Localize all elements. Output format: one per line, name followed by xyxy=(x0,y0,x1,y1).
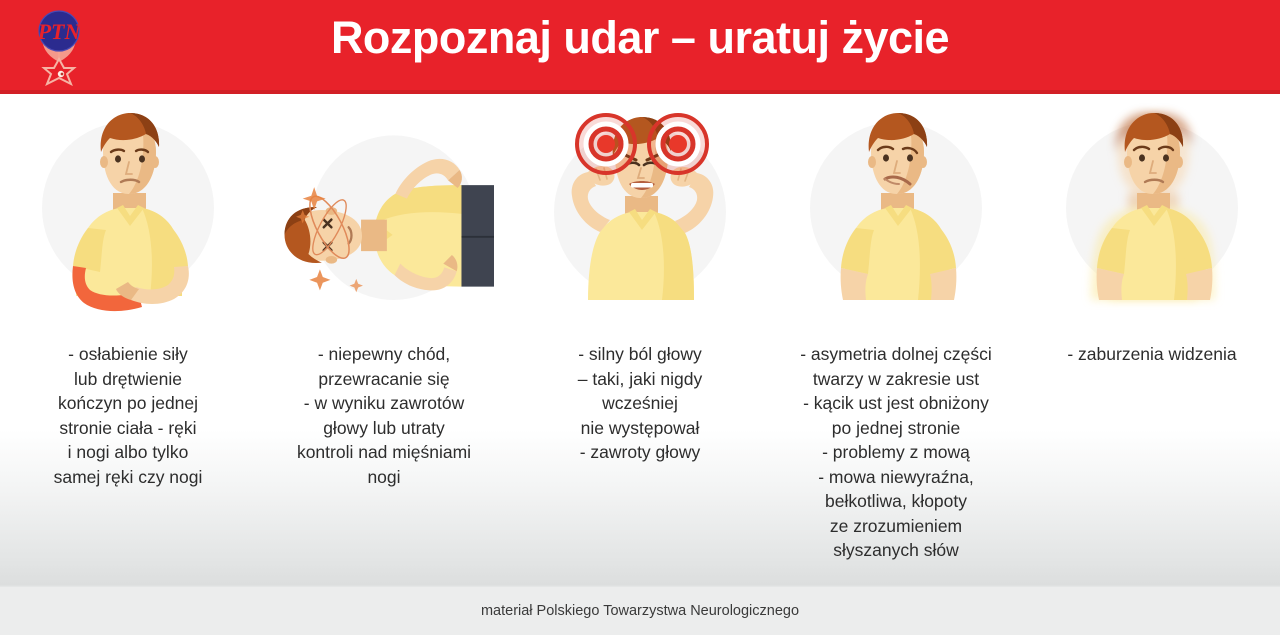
symptom-text-2: - niepewny chód, przewracanie się - w wy… xyxy=(263,342,505,489)
symptom-text-3: - silny ból głowy – taki, jaki nigdy wcz… xyxy=(534,342,746,465)
man-face-drooping-illustration xyxy=(786,100,1006,322)
footer-credit: materiał Polskiego Towarzystwa Neurologi… xyxy=(481,603,799,619)
stroke-awareness-poster: PTN Rozpoznaj udar – uratuj życie xyxy=(0,0,1280,635)
page-title: Rozpoznaj udar – uratuj życie xyxy=(0,12,1280,64)
footer-bar: materiał Polskiego Towarzystwa Neurologi… xyxy=(0,587,1280,635)
symptom-column-1: - osłabienie siły lub drętwienie kończyn… xyxy=(0,100,256,489)
symptom-columns: - osłabienie siły lub drętwienie kończyn… xyxy=(0,100,1280,563)
header-banner: PTN Rozpoznaj udar – uratuj życie xyxy=(0,0,1280,94)
illustration-headache xyxy=(530,100,750,322)
symptom-column-2: - niepewny chód, przewracanie się - w wy… xyxy=(256,100,512,489)
symptom-text-5: - zaburzenia widzenia xyxy=(1031,342,1273,367)
illustration-weak-limb xyxy=(18,100,238,322)
illustration-unsteady-gait xyxy=(274,100,494,322)
man-headache-illustration xyxy=(530,100,750,322)
man-holding-numb-arm-illustration xyxy=(18,100,238,322)
man-falling-dizzy-illustration xyxy=(274,100,494,322)
symptom-text-4: - asymetria dolnej części twarzy w zakre… xyxy=(775,342,1017,563)
symptom-column-3: - silny ból głowy – taki, jaki nigdy wcz… xyxy=(512,100,768,465)
pain-burst-right-icon xyxy=(649,115,707,173)
symptom-text-1: - osłabienie siły lub drętwienie kończyn… xyxy=(24,342,232,489)
pain-burst-left-icon xyxy=(577,115,635,173)
symptom-column-4: - asymetria dolnej części twarzy w zakre… xyxy=(768,100,1024,563)
man-blurred-vision-illustration xyxy=(1042,100,1262,322)
illustration-face-droop xyxy=(786,100,1006,322)
symptom-column-5: - zaburzenia widzenia xyxy=(1024,100,1280,367)
illustration-blurred-vision xyxy=(1042,100,1262,322)
